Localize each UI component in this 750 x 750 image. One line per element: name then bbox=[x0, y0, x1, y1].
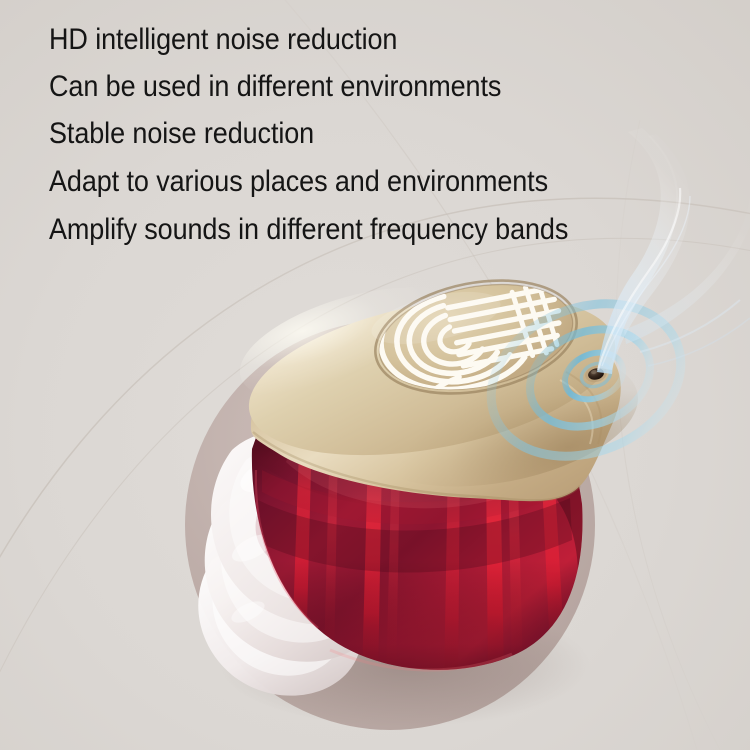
product-feature-image: HD intelligent noise reduction Can be us… bbox=[0, 0, 750, 750]
product-illustration bbox=[0, 0, 750, 750]
feature-line-5: Amplify sounds in different frequency ba… bbox=[49, 215, 568, 245]
feature-line-4: Adapt to various places and environments bbox=[49, 167, 548, 197]
feature-line-1: HD intelligent noise reduction bbox=[49, 25, 397, 55]
feature-line-2: Can be used in different environments bbox=[49, 72, 501, 102]
feature-line-3: Stable noise reduction bbox=[49, 119, 314, 149]
